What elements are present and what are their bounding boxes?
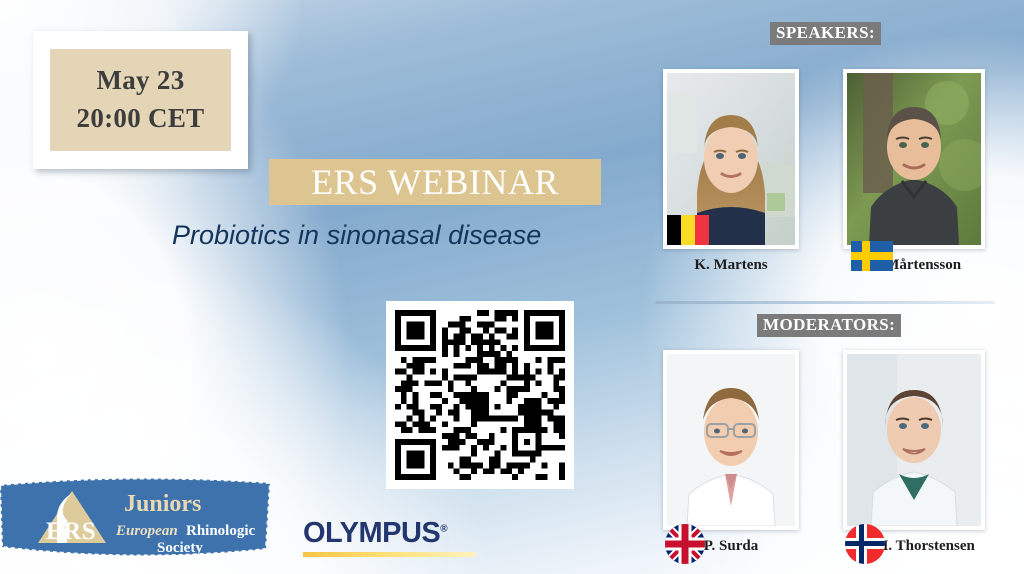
ers-juniors-logo-graphic: ERS Juniors European Rhinologic Society xyxy=(0,471,282,563)
portrait-a-martensson xyxy=(847,73,981,245)
webinar-title-band: ERS WEBINAR xyxy=(269,159,601,205)
ers-juniors-text: Juniors xyxy=(124,491,201,517)
portrait-p-surda xyxy=(667,354,795,526)
speaker-card-a-martensson: A. Mårtensson xyxy=(843,69,985,274)
date-card: May 23 20:00 CET xyxy=(33,31,248,169)
portrait-w-m-thorstensen xyxy=(847,354,981,526)
photo-frame xyxy=(663,69,799,249)
ers-monogram: ERS xyxy=(46,518,96,545)
ers-juniors-logo[interactable]: ERS Juniors European Rhinologic Society xyxy=(0,471,282,563)
registered-trademark-icon: ® xyxy=(440,523,447,534)
portrait-image xyxy=(667,354,795,526)
uk-flag-graphic xyxy=(665,524,705,564)
portrait-image xyxy=(847,73,981,245)
norway-flag-icon xyxy=(845,524,885,564)
photo-frame xyxy=(663,350,799,530)
olympus-logo[interactable]: OLYMPUS® xyxy=(303,519,483,559)
ers-european-text: European xyxy=(115,523,178,539)
speakers-heading: SPEAKERS: xyxy=(770,22,881,45)
section-divider xyxy=(655,301,995,304)
ers-rhinologic-text: Rhinologic xyxy=(186,523,256,539)
qr-code[interactable] xyxy=(386,301,574,489)
olympus-underline-bar xyxy=(303,552,476,557)
united-kingdom-flag-icon xyxy=(665,524,705,564)
olympus-word-text: OLYMPUS xyxy=(303,517,440,549)
date-time: 20:00 CET xyxy=(77,101,205,137)
photo-frame xyxy=(843,350,985,530)
page-title: ERS WEBINAR xyxy=(311,164,559,200)
webinar-slide: May 23 20:00 CET ERS WEBINAR Probiotics … xyxy=(0,0,1024,574)
sweden-flag-icon xyxy=(851,241,893,271)
belgium-flag-icon xyxy=(667,215,709,245)
date-day: May 23 xyxy=(96,63,184,99)
moderators-heading: MODERATORS: xyxy=(757,314,901,337)
ers-society-text: Society xyxy=(157,540,203,556)
olympus-wordmark: OLYMPUS® xyxy=(303,519,483,548)
date-card-inner: May 23 20:00 CET xyxy=(50,49,231,151)
photo-frame xyxy=(843,69,985,249)
speaker-name: K. Martens xyxy=(663,257,799,274)
webinar-subtitle: Probiotics in sinonasal disease xyxy=(172,221,602,251)
portrait-image xyxy=(847,354,981,526)
speaker-card-k-martens: K. Martens xyxy=(663,69,799,274)
moderator-card-w-m-thorstensen: W. M. Thorstensen xyxy=(843,350,985,555)
qr-code-image xyxy=(395,310,565,480)
moderator-card-p-surda: P. Surda xyxy=(663,350,799,555)
